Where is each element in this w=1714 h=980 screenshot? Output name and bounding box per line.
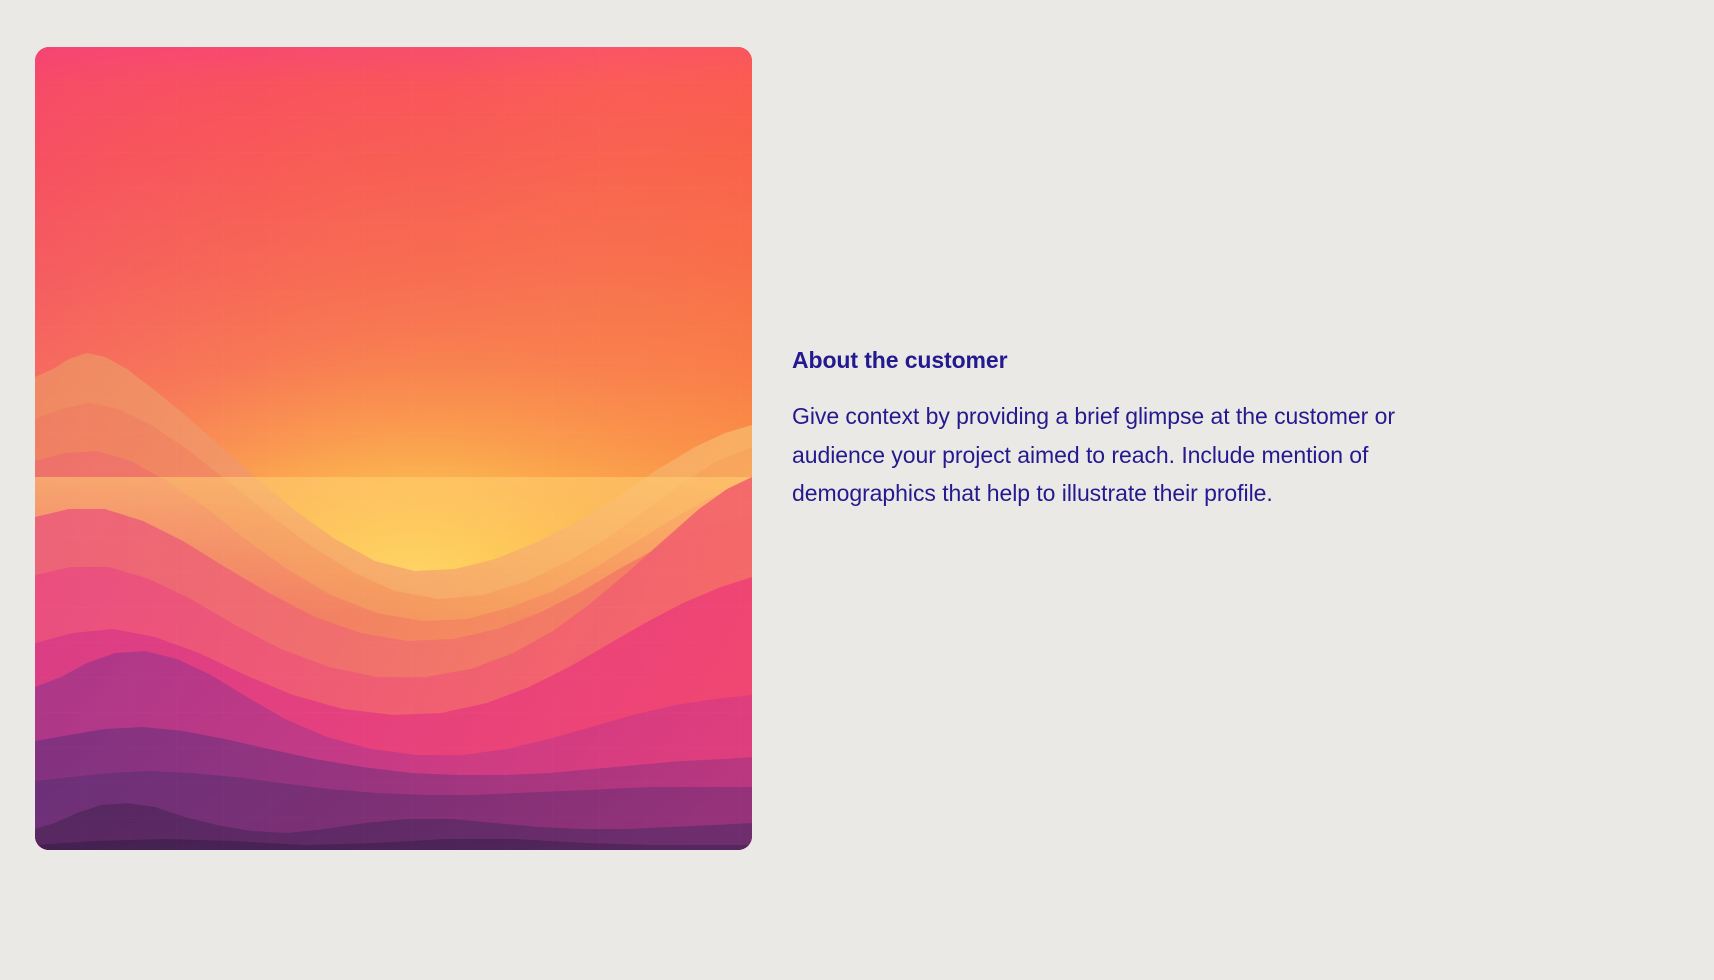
sunset-mountains-illustration [35, 47, 752, 850]
customer-text-column: About the customer Give context by provi… [792, 345, 1492, 513]
customer-illustration-card [35, 47, 752, 850]
page-root: About the customer Give context by provi… [0, 0, 1714, 980]
section-heading: About the customer [792, 345, 1492, 375]
section-body-text: Give context by providing a brief glimps… [792, 397, 1472, 513]
